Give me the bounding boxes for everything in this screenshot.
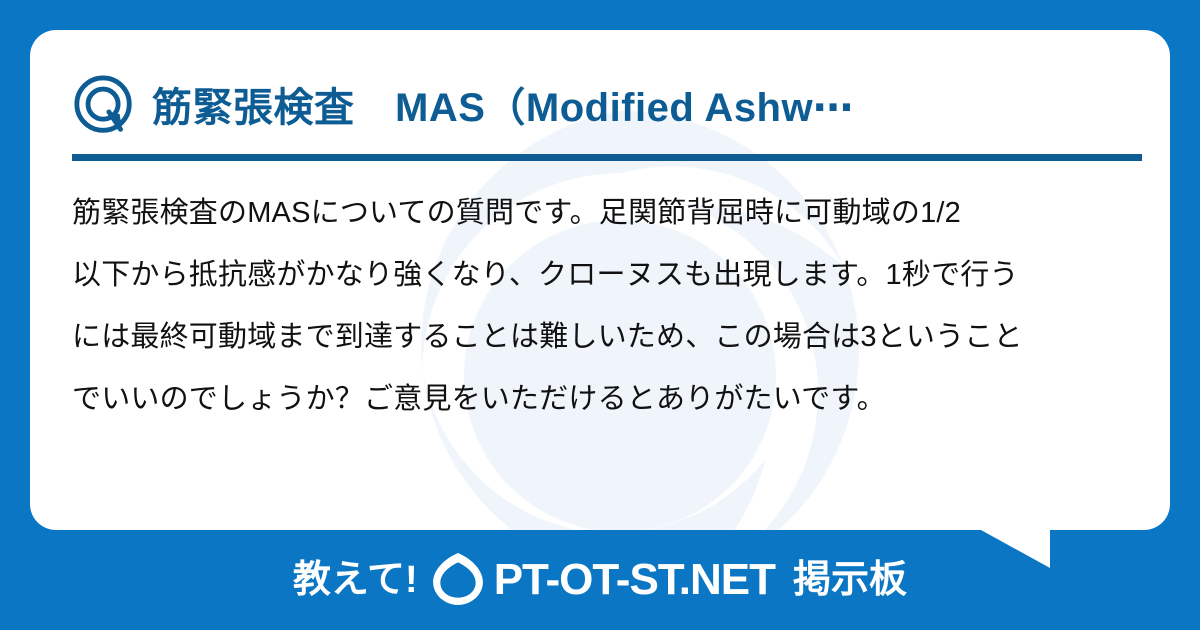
footer-brand-label: PT-OT-ST.NET (494, 558, 775, 602)
body-line: 以下から抵抗感がかなり強くなり、クローヌスも出現します。1秒で行う (72, 244, 1152, 306)
card-inner: 筋緊張検査 MAS（Modified Ashw⋯ 筋緊張検査のMASについての質… (30, 30, 1170, 530)
pt-ot-st-net-swirl-logo-icon (432, 552, 484, 608)
body-line: 筋緊張検査のMASについての質問です。足関節背屈時に可動域の1/2 (72, 182, 1152, 244)
footer-brand-bar: 教えて! PT-OT-ST.NET 掲示板 (0, 530, 1200, 630)
footer-prefix-label: 教えて! (293, 561, 418, 599)
page-title: 筋緊張検査 MAS（Modified Ashw⋯ (152, 86, 854, 130)
q-speech-bubble-icon (72, 75, 138, 141)
question-body: 筋緊張検査のMASについての質問です。足関節背屈時に可動域の1/2 以下から抵抗… (72, 182, 1152, 430)
header-divider (72, 154, 1142, 161)
body-line: でいいのでしょうか？ご意見をいただけるとありがたいです。 (72, 368, 1152, 430)
body-line: には最終可動域まで到達することは難しいため、この場合は3ということ (72, 306, 1152, 368)
footer-suffix-label: 掲示板 (793, 561, 907, 599)
screenshot-root: 筋緊張検査 MAS（Modified Ashw⋯ 筋緊張検査のMASについての質… (0, 0, 1200, 630)
question-card: 筋緊張検査 MAS（Modified Ashw⋯ 筋緊張検査のMASについての質… (0, 0, 1200, 570)
card-header: 筋緊張検査 MAS（Modified Ashw⋯ (72, 60, 1152, 155)
